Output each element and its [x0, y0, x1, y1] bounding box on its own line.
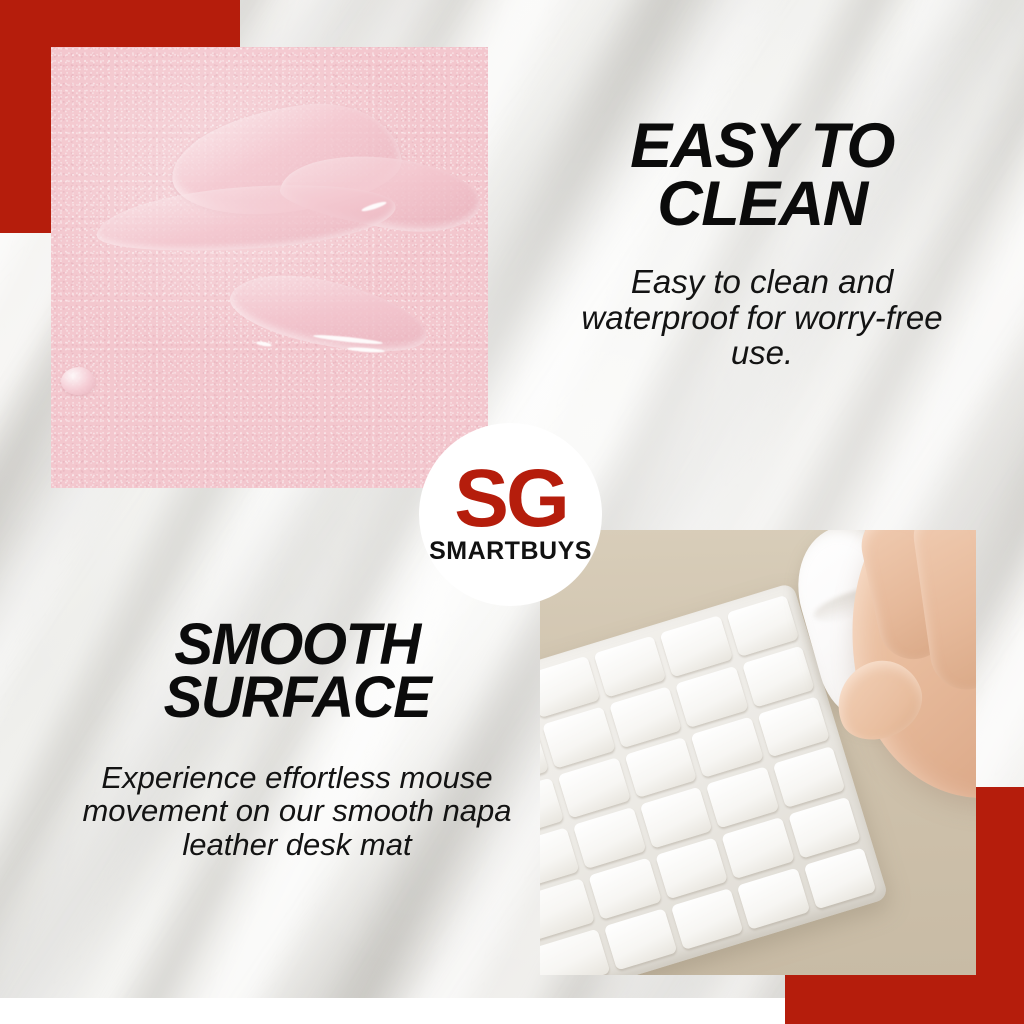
heading-line-2: CLEAN: [657, 169, 867, 239]
key: [690, 716, 763, 778]
key: [772, 746, 845, 808]
key: [788, 797, 861, 859]
water-droplet-small: [61, 367, 95, 395]
key-wide: [540, 929, 611, 975]
feature-heading-smooth-surface: SMOOTHSURFACE: [62, 618, 532, 725]
key: [726, 595, 799, 657]
key: [604, 908, 677, 970]
logo-sg-mark: SG: [454, 465, 566, 532]
feature-body-easy-to-clean: Easy to clean and waterproof for worry-f…: [560, 264, 964, 371]
key: [588, 858, 661, 920]
key: [741, 645, 814, 707]
key: [557, 757, 630, 819]
key: [593, 635, 666, 697]
feature-image-waterproof-leather: [51, 47, 488, 488]
key: [659, 615, 732, 677]
accent-block-top-left-vertical: [0, 0, 51, 233]
key: [803, 847, 876, 909]
accent-block-bottom-right-horizontal: [785, 975, 1024, 1024]
feature-text-easy-to-clean: EASY TOCLEAN Easy to clean and waterproo…: [560, 118, 964, 371]
key: [639, 787, 712, 849]
key: [542, 706, 615, 768]
key: [624, 737, 697, 799]
feature-body-smooth-surface: Experience effortless mouse movement on …: [62, 761, 532, 861]
key: [721, 817, 794, 879]
logo-smartbuys-wordmark: SMARTBUYS: [429, 537, 592, 566]
key: [757, 696, 830, 758]
key: [670, 888, 743, 950]
key: [573, 807, 646, 869]
key: [706, 767, 779, 829]
feature-image-desk-mat-keyboard: [540, 530, 976, 975]
feature-text-smooth-surface: SMOOTHSURFACE Experience effortless mous…: [62, 618, 532, 861]
feature-heading-easy-to-clean: EASY TOCLEAN: [560, 118, 964, 234]
product-feature-graphic: SG SMARTBUYS EASY TOCLEAN Easy to clean …: [0, 0, 1024, 1024]
key: [608, 686, 681, 748]
heading-line-2: SURFACE: [164, 665, 431, 730]
brand-logo-badge: SG SMARTBUYS: [419, 423, 602, 606]
key: [655, 838, 728, 900]
key: [675, 666, 748, 728]
key: [737, 868, 810, 930]
